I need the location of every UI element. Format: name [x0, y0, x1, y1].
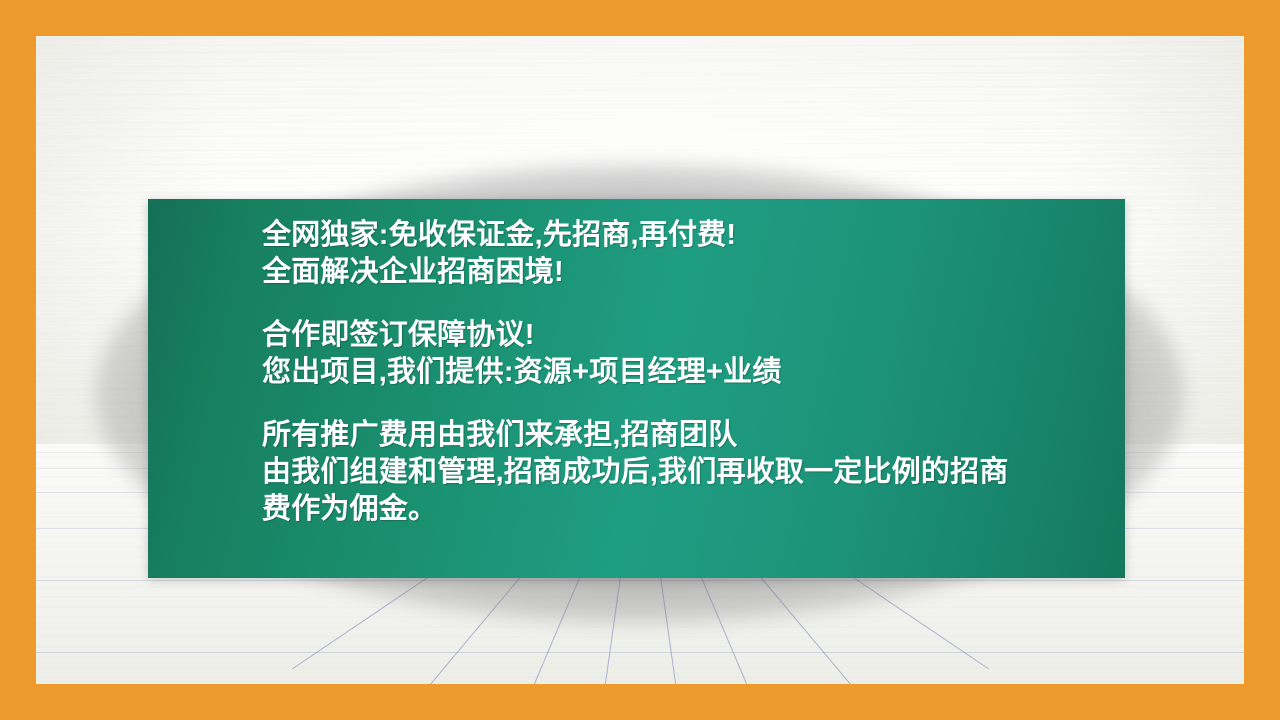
border-right — [1244, 0, 1280, 720]
paragraph-offer: 全网独家:免收保证金,先招商,再付费! 全面解决企业招商困境! — [262, 217, 1111, 291]
offer-line-2: 全面解决企业招商困境! — [262, 254, 1111, 291]
paragraph-agreement: 合作即签订保障协议! 您出项目,我们提供:资源+项目经理+业绩 — [262, 317, 1111, 391]
agreement-line-2: 您出项目,我们提供:资源+项目经理+业绩 — [262, 354, 1111, 391]
promotional-slide: 全网独家:免收保证金,先招商,再付费! 全面解决企业招商困境! 合作即签订保障协… — [0, 0, 1280, 720]
terms-line-3: 费作为佣金。 — [262, 491, 1111, 528]
slide-stage: 全网独家:免收保证金,先招商,再付费! 全面解决企业招商困境! 合作即签订保障协… — [36, 36, 1244, 684]
border-top — [0, 0, 1280, 36]
terms-line-2: 由我们组建和管理,招商成功后,我们再收取一定比例的招商 — [262, 454, 1111, 491]
border-bottom — [0, 684, 1280, 720]
paragraph-terms: 所有推广费用由我们来承担,招商团队 由我们组建和管理,招商成功后,我们再收取一定… — [262, 417, 1111, 528]
message-card-content: 全网独家:免收保证金,先招商,再付费! 全面解决企业招商困境! 合作即签订保障协… — [262, 217, 1111, 528]
border-left — [0, 0, 36, 720]
terms-line-1: 所有推广费用由我们来承担,招商团队 — [262, 417, 1111, 454]
agreement-line-1: 合作即签订保障协议! — [262, 317, 1111, 354]
message-card: 全网独家:免收保证金,先招商,再付费! 全面解决企业招商困境! 合作即签订保障协… — [148, 199, 1125, 578]
offer-line-1: 全网独家:免收保证金,先招商,再付费! — [262, 217, 1111, 254]
